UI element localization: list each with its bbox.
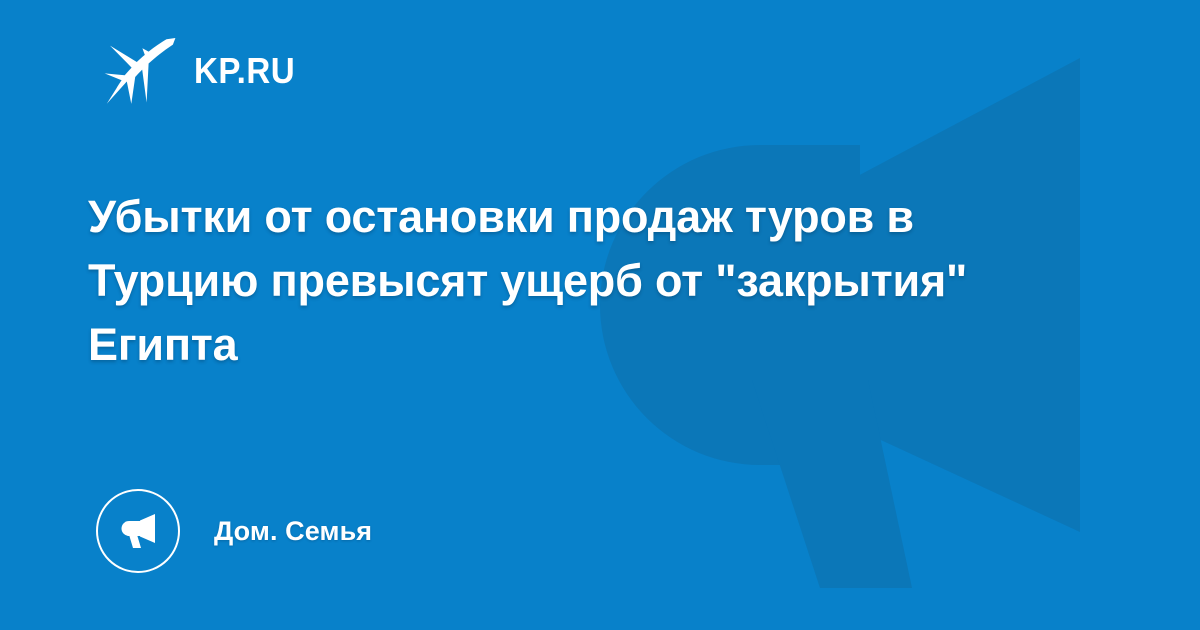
page-title: Убытки от остановки продаж туров в Турци…: [88, 185, 1048, 377]
brand-logo[interactable]: KP.RU: [104, 36, 304, 106]
megaphone-icon: [117, 510, 159, 552]
swallow-bird-icon: [104, 36, 176, 106]
category-icon-circle: [96, 489, 180, 573]
category-badge[interactable]: Дом. Семья: [96, 489, 372, 573]
category-label: Дом. Семья: [214, 518, 372, 545]
social-share-card: KP.RU Убытки от остановки продаж туров в…: [0, 0, 1200, 630]
brand-name: KP.RU: [194, 53, 295, 89]
